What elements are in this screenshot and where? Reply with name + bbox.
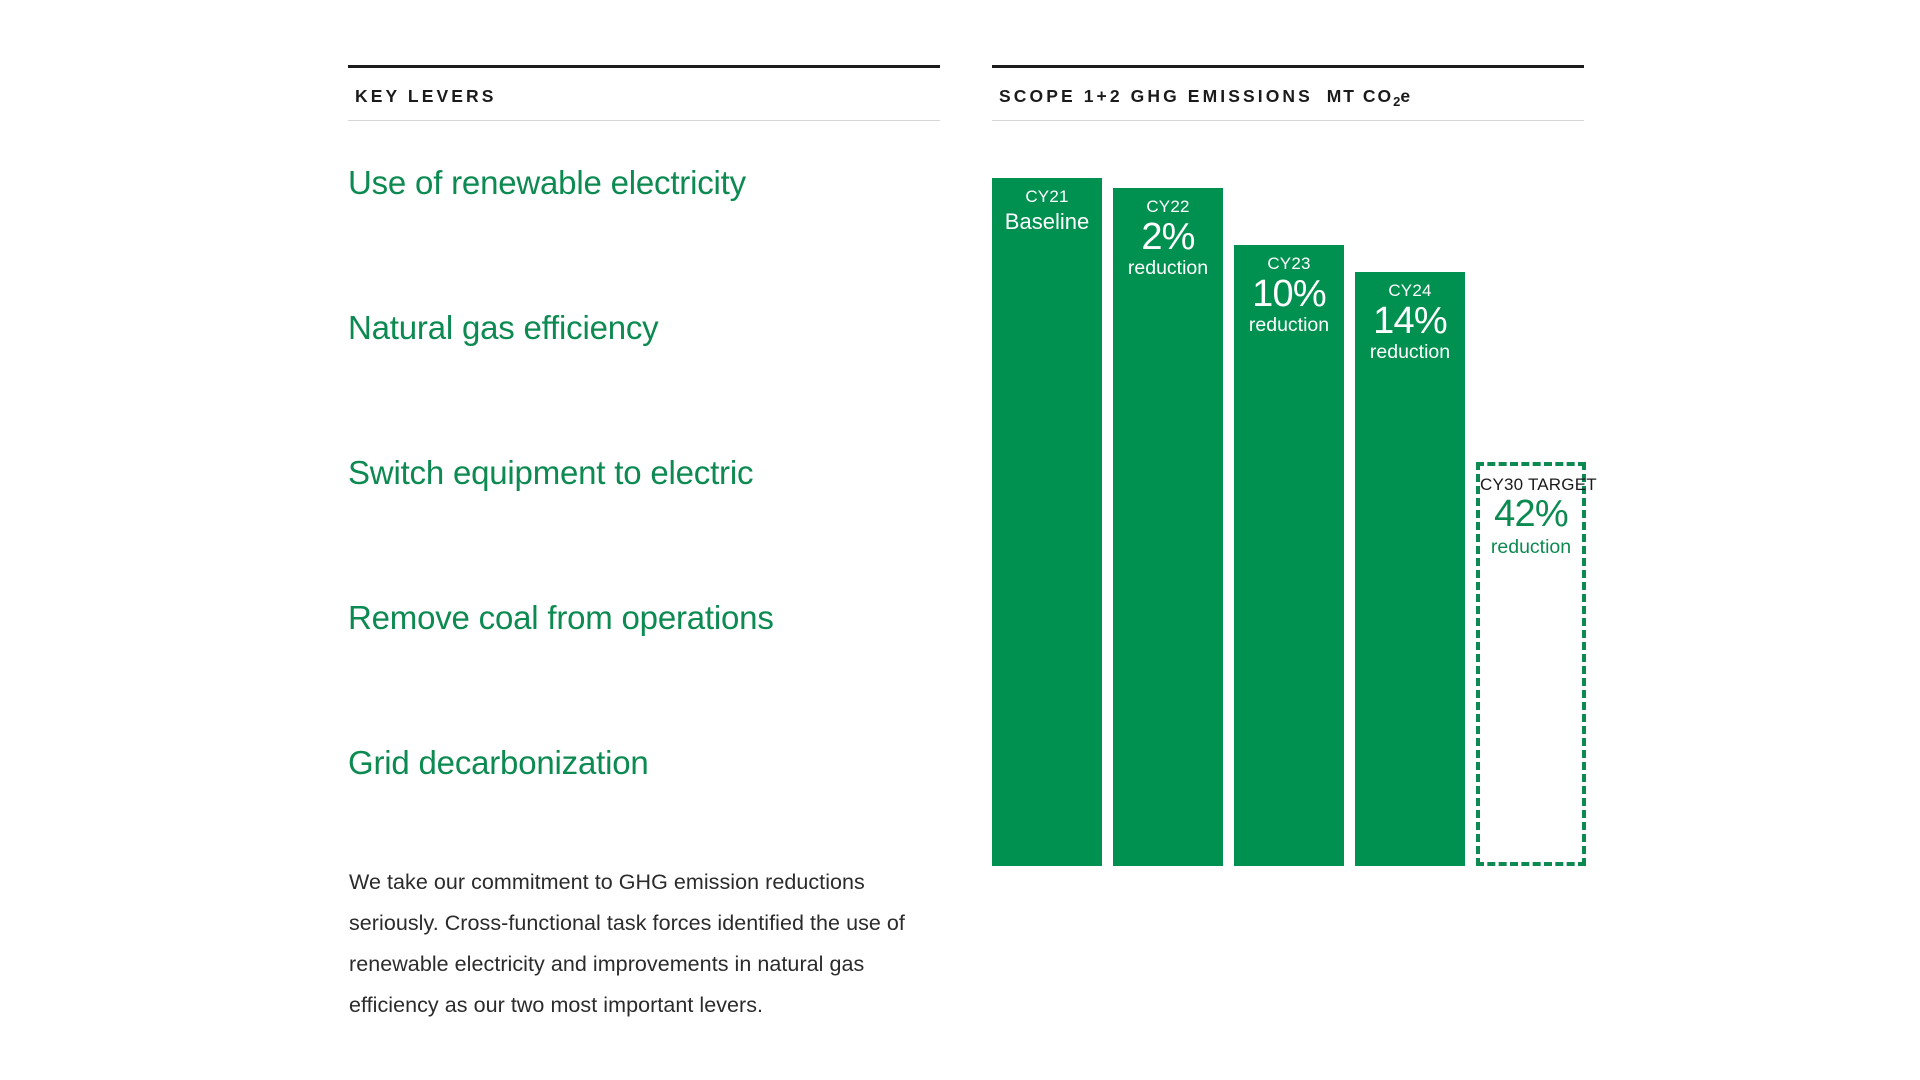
bar-cy30-reduction: reduction [1480,535,1582,559]
bar-cy24-reduction: reduction [1355,340,1465,364]
infographic-page: KEY LEVERS Use of renewable electricity … [0,0,1920,1080]
bar-cy24-percent: 14% [1355,302,1465,341]
bar-cy30-target: CY30 TARGET 42% reduction [1476,462,1586,866]
bar-cy23-percent: 10% [1234,275,1344,314]
bar-cy30-labels: CY30 TARGET 42% reduction [1480,466,1582,560]
bar-cy30-year: CY30 TARGET [1480,474,1582,495]
bar-cy21-year: CY21 [992,187,1102,208]
emissions-chart-panel: SCOPE 1+2 GHG EMISSIONS MT CO2e CY21 Bas… [992,0,1584,1080]
key-levers-header: KEY LEVERS [348,65,940,121]
bar-cy22: CY22 2% reduction [1113,188,1223,866]
bar-cy30-percent: 42% [1480,495,1582,535]
key-levers-panel: KEY LEVERS Use of renewable electricity … [348,0,940,1080]
list-item: Switch equipment to electric [348,456,940,601]
list-item: Use of renewable electricity [348,166,940,311]
bar-cy21-labels: CY21 Baseline [992,178,1102,236]
levers-list: Use of renewable electricity Natural gas… [348,166,940,891]
bar-cy22-labels: CY22 2% reduction [1113,188,1223,281]
bar-cy21-caption: Baseline [992,208,1102,237]
bar-chart-plot: CY21 Baseline CY22 2% reduction CY23 10%… [992,0,1584,1080]
bar-cy24: CY24 14% reduction [1355,272,1465,866]
bar-cy22-reduction: reduction [1113,256,1223,280]
bar-cy22-percent: 2% [1113,218,1223,257]
page-title: KEY LEVERS [348,68,940,120]
header-rule-bottom [348,120,940,121]
bar-cy21: CY21 Baseline [992,178,1102,866]
list-item: Natural gas efficiency [348,311,940,456]
bar-cy23: CY23 10% reduction [1234,245,1344,866]
bar-cy23-reduction: reduction [1234,313,1344,337]
bar-cy24-year: CY24 [1355,281,1465,302]
body-paragraph: We take our commitment to GHG emission r… [349,862,959,1026]
bar-cy24-labels: CY24 14% reduction [1355,272,1465,365]
bar-cy22-year: CY22 [1113,197,1223,218]
list-item: Remove coal from operations [348,601,940,746]
bar-cy23-labels: CY23 10% reduction [1234,245,1344,338]
bar-cy23-year: CY23 [1234,254,1344,275]
